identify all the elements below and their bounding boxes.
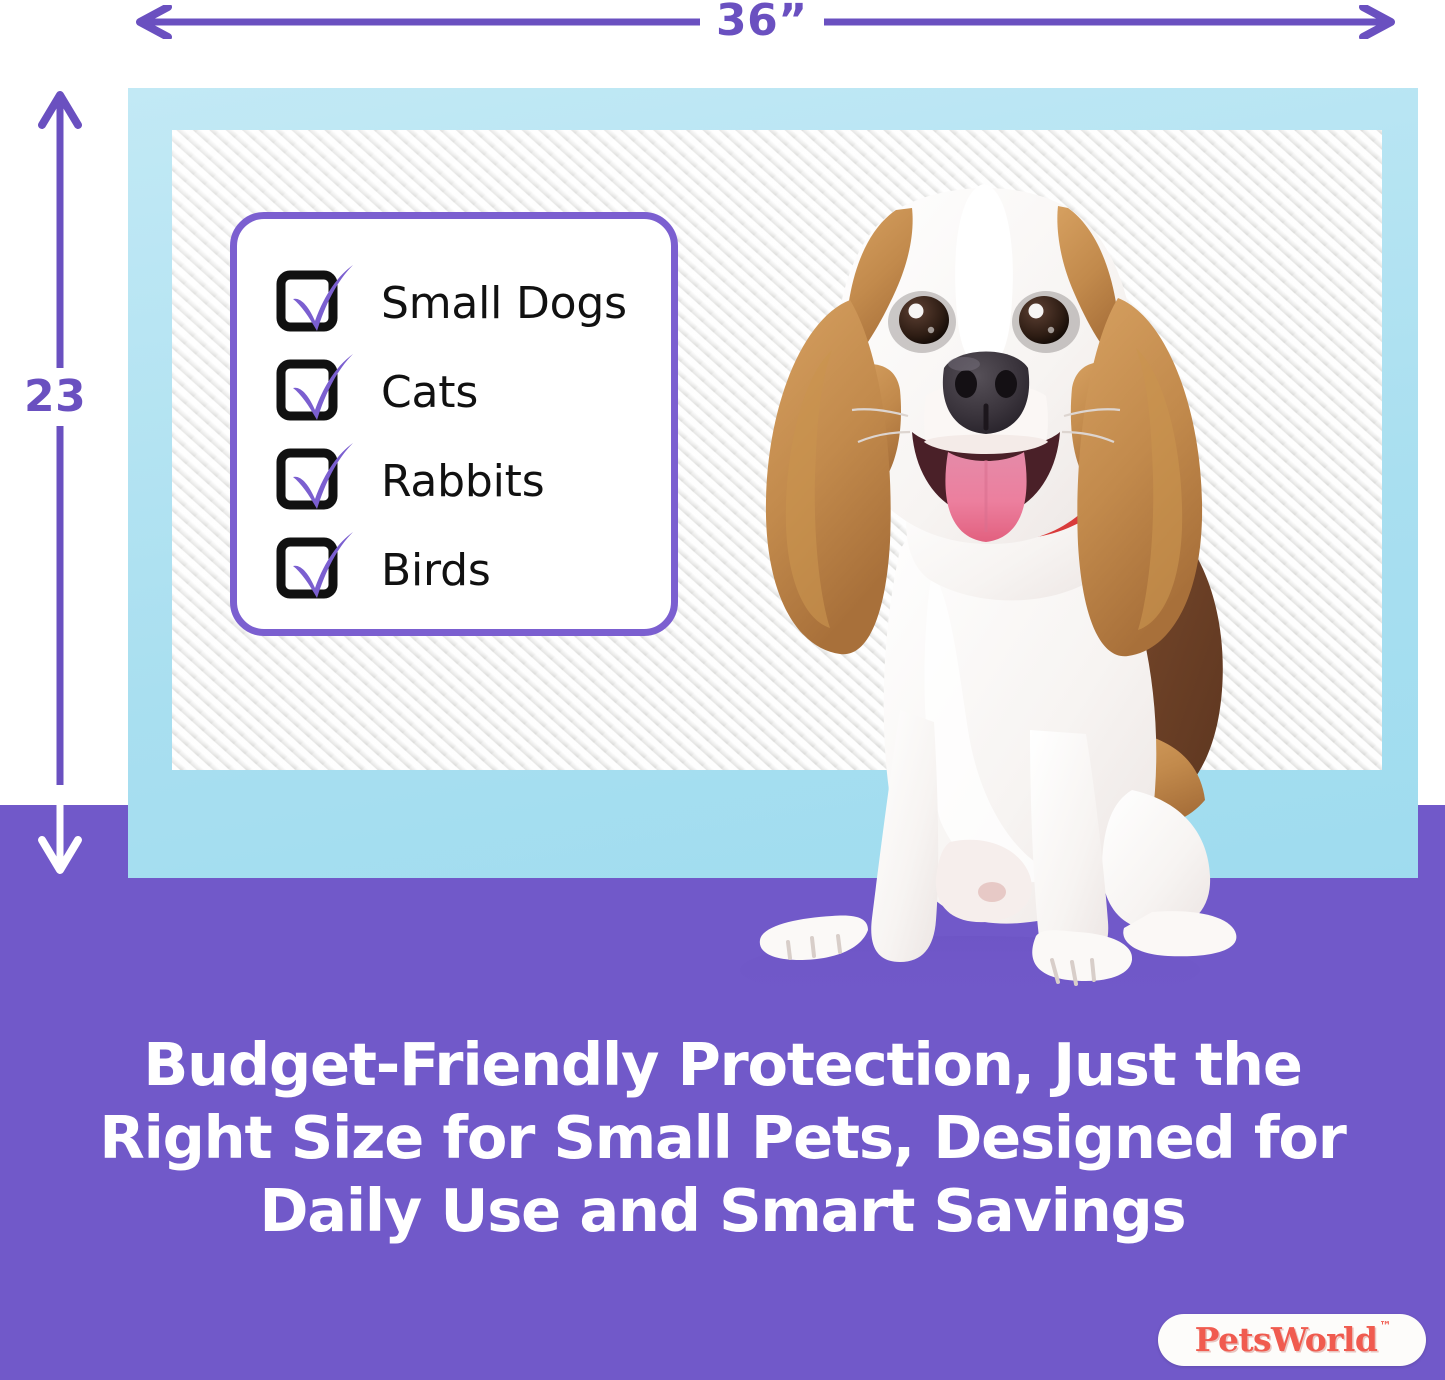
petsworld-logo: PetsWorld™ [1158,1314,1426,1366]
list-item[interactable]: Birds [279,526,671,615]
list-item[interactable]: Small Dogs [279,259,671,348]
product-marketing-image: Small Dogs Cats Rabbits [0,0,1445,1380]
checkbox-checked-icon [279,360,345,426]
suitable-pets-checklist: Small Dogs Cats Rabbits [230,212,678,636]
width-dimension-label: 36” [700,0,824,44]
list-item-label: Cats [381,367,478,418]
checkbox-checked-icon [279,449,345,515]
list-item-label: Birds [381,545,491,596]
checkbox-checked-icon [279,538,345,604]
beagle-dog-photo [700,170,1260,1000]
checkbox-checked-icon [279,271,345,337]
list-item-label: Small Dogs [381,278,627,329]
list-item[interactable]: Rabbits [279,437,671,526]
headline-text: Budget-Friendly Protection, Just the Rig… [60,1028,1385,1247]
trademark-symbol: ™ [1379,1319,1391,1333]
list-item-label: Rabbits [381,456,544,507]
height-dimension-label: 23 [14,368,96,426]
brand-name: PetsWorld [1195,1320,1378,1359]
height-dimension-arrow [30,85,90,880]
list-item[interactable]: Cats [279,348,671,437]
